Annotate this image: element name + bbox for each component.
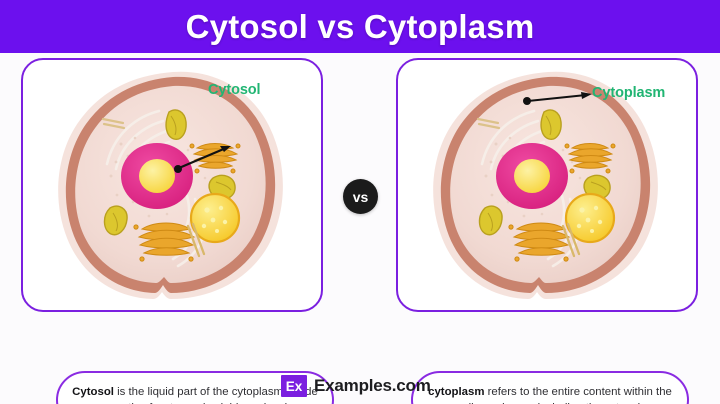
endoplasmic-reticulum [482, 111, 580, 266]
nucleus [496, 143, 568, 209]
nucleolus [139, 159, 175, 193]
centriole [188, 224, 204, 256]
mitochondrion [541, 110, 561, 139]
logo-mark-icon: Ex [281, 375, 307, 397]
animal-cell-illustration [47, 66, 297, 304]
mitochondrion [584, 175, 610, 199]
logo-text: Examples.com [314, 376, 431, 396]
caption-term-right: cytoplasm [428, 386, 484, 398]
golgi-apparatus [134, 223, 198, 261]
ribosomes [485, 137, 582, 244]
golgi-apparatus [509, 223, 573, 261]
cytosol-pointer-arrow [173, 140, 235, 176]
cell-membrane [58, 72, 283, 299]
caption-text-right: cytoplasm refers to the entire content w… [425, 384, 675, 404]
lysosome [191, 194, 239, 242]
mitochondrion [104, 206, 127, 234]
caption-term-left: Cytosol [72, 386, 114, 398]
centriole [103, 119, 124, 128]
callout-label-cytoplasm: Cytoplasm [592, 85, 665, 101]
page-title: Cytosol vs Cytoplasm [186, 10, 535, 43]
cytoplasm-pointer-arrow [522, 84, 596, 110]
callout-label-cytosol: Cytosol [208, 82, 260, 98]
mitochondrion [209, 175, 235, 199]
header-banner: Cytosol vs Cytoplasm [0, 0, 720, 53]
comparison-panel-left: Cytosol is the liquid part of the cytopl… [21, 58, 323, 312]
mitochondrion [479, 206, 502, 234]
nucleolus [514, 159, 550, 193]
caption-rest-right: refers to the entire content within the … [457, 386, 672, 404]
golgi-apparatus [565, 144, 615, 174]
cell-diagram-left [47, 66, 297, 304]
mitochondrion [166, 110, 186, 139]
centriole [563, 224, 579, 256]
caption-box-right: cytoplasm refers to the entire content w… [411, 371, 689, 404]
lysosome [566, 194, 614, 242]
infographic-canvas: Cytosol vs Cytoplasm [0, 0, 720, 404]
brand-logo[interactable]: Ex Examples.com [281, 375, 431, 397]
endoplasmic-reticulum [107, 111, 205, 266]
versus-badge: vs [343, 179, 378, 214]
centriole [478, 119, 499, 128]
